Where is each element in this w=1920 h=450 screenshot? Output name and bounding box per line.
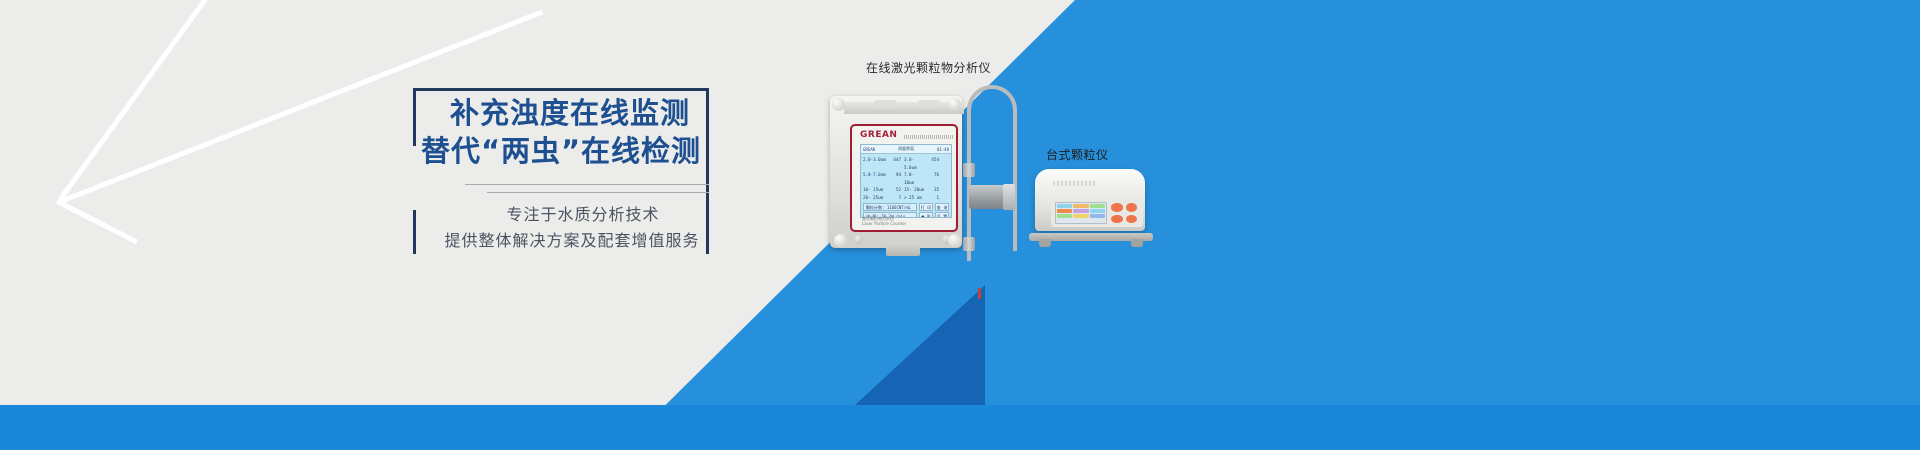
- benchtop-vent: [1053, 181, 1097, 186]
- lcd-status-line: 颗粒计数: 1166CNT/mL 打 印 查 询: [863, 203, 949, 211]
- analyzer-brand-text: GREAN: [860, 130, 897, 140]
- lcd-title-time: 01:48: [937, 147, 949, 152]
- lcd-data-table: 2.0-3.0um 447 3.0-5.0um 454 5.0-7.0um 94…: [861, 154, 951, 201]
- divider-upper: [465, 184, 709, 185]
- headline-group: 补充浊度在线监测 替代“两虫”在线检测: [413, 94, 709, 170]
- benchtop-leg-left: [1039, 239, 1051, 247]
- banner-root: 补充浊度在线监测 替代“两虫”在线检测 专注于水质分析技术 提供整体解决方案及配…: [0, 0, 1920, 450]
- analyzer-top-tab-right: [918, 100, 940, 108]
- probe-sensor-marking: [978, 288, 981, 299]
- benchtop-lcd-cell: [1073, 214, 1088, 218]
- product-image-analyzer: GREAN GREAN 测量界面 01:48 2.0-3.0um 447 3.0…: [822, 84, 970, 260]
- lcd-row: 10- 15um 52 15- 20um 35: [863, 186, 949, 194]
- lcd-range-b: > 25 um: [901, 194, 925, 202]
- product-image-benchtop: [1029, 167, 1153, 247]
- benchtop-enclosure: [1035, 169, 1145, 231]
- analyzer-knob-top-left: [832, 98, 845, 111]
- analyzer-knob-bottom-right: [948, 234, 961, 247]
- lcd-value-b: 35: [925, 186, 939, 194]
- probe-fitting-lower: [963, 237, 975, 251]
- lcd-value-b: 76: [925, 171, 939, 186]
- lcd-value-a: 447: [887, 156, 901, 171]
- bottom-blue-bar: [0, 405, 1920, 450]
- benchtop-keypad[interactable]: [1111, 203, 1137, 223]
- subtitle-line-2: 提供整体解决方案及配套增值服务: [413, 228, 709, 254]
- analyzer-footer-en: Laser Particle Counter: [862, 221, 906, 226]
- analyzer-knob-bottom-left: [834, 234, 847, 247]
- benchtop-key[interactable]: [1111, 203, 1123, 212]
- bracket-top-edge: [413, 88, 709, 91]
- benchtop-lcd-cell: [1073, 204, 1088, 208]
- probe-sensor-cap: [1003, 184, 1015, 210]
- lcd-row: 2.0-3.0um 447 3.0-5.0um 454: [863, 156, 949, 171]
- divider-group: [413, 184, 709, 198]
- benchtop-lcd-cell: [1057, 214, 1072, 218]
- lcd-range-a: 2.0-3.0um: [863, 156, 887, 171]
- headline-line-2: 替代“两虫”在线检测: [413, 132, 709, 170]
- benchtop-control-panel: [1051, 199, 1143, 227]
- analyzer-knob-top-right: [948, 98, 961, 111]
- subtitle-group: 专注于水质分析技术 提供整体解决方案及配套增值服务: [413, 202, 709, 254]
- sensor-probe-assembly: [963, 85, 1023, 270]
- benchtop-lcd-cell: [1090, 214, 1105, 218]
- lcd-value-a: 52: [887, 186, 901, 194]
- analyzer-lcd-screen[interactable]: GREAN 测量界面 01:48 2.0-3.0um 447 3.0-5.0um…: [860, 144, 952, 218]
- analyzer-screw-left: [854, 235, 863, 244]
- lcd-range-b: 7.0- 10um: [901, 171, 925, 186]
- lcd-measure-button[interactable]: ■ 测 量: [919, 212, 933, 218]
- headline-panel: 补充浊度在线监测 替代“两虫”在线检测 专注于水质分析技术 提供整体解决方案及配…: [413, 88, 709, 254]
- lcd-value-a: 7: [887, 194, 901, 202]
- lcd-value-a: 94: [887, 171, 901, 186]
- divider-lower: [487, 192, 709, 193]
- benchtop-lcd-row: [1057, 214, 1105, 218]
- lcd-range-a: 20- 25um: [863, 194, 887, 202]
- lcd-title-bar: GREAN 测量界面 01:48: [861, 145, 951, 154]
- lcd-settings-button[interactable]: 设 置: [935, 212, 949, 218]
- benchtop-key[interactable]: [1111, 215, 1123, 224]
- benchtop-key[interactable]: [1126, 215, 1138, 224]
- benchtop-lcd-cell: [1090, 204, 1105, 208]
- analyzer-top-tab-left: [874, 100, 896, 108]
- benchtop-lcd-row: [1057, 204, 1105, 208]
- lcd-value-b: 454: [925, 156, 939, 171]
- subtitle-line-1: 专注于水质分析技术: [413, 202, 709, 228]
- analyzer-enclosure: GREAN GREAN 测量界面 01:48 2.0-3.0um 447 3.0…: [830, 96, 962, 248]
- lcd-row: 20- 25um 7 > 25 um 1: [863, 194, 949, 202]
- lcd-range-b: 3.0-5.0um: [901, 156, 925, 171]
- benchtop-lcd-cell: [1057, 209, 1072, 213]
- lcd-range-b: 15- 20um: [901, 186, 925, 194]
- lcd-title-center: 测量界面: [898, 146, 914, 152]
- benchtop-lcd-screen[interactable]: [1055, 202, 1107, 224]
- analyzer-footer-text: 激光颗粒物分析仪 Laser Particle Counter: [862, 216, 906, 226]
- lcd-row: 5.0-7.0um 94 7.0- 10um 76: [863, 171, 949, 186]
- benchtop-key[interactable]: [1126, 203, 1138, 212]
- benchtop-lcd-cell: [1090, 209, 1105, 213]
- analyzer-front-bezel: GREAN GREAN 测量界面 01:48 2.0-3.0um 447 3.0…: [850, 124, 958, 232]
- analyzer-brand-hatch: [904, 135, 954, 139]
- lcd-range-a: 10- 15um: [863, 186, 887, 194]
- lcd-range-a: 5.0-7.0um: [863, 171, 887, 186]
- headline-line-1: 补充浊度在线监测: [413, 94, 709, 132]
- benchtop-lcd-cell: [1057, 204, 1072, 208]
- lcd-print-button[interactable]: 打 印: [919, 203, 933, 211]
- probe-fitting-upper: [963, 163, 975, 177]
- benchtop-lcd-row: [1057, 209, 1105, 213]
- product-label-analyzer: 在线激光颗粒物分析仪: [866, 59, 991, 76]
- probe-tube-arc: [967, 85, 1017, 155]
- lcd-query-button[interactable]: 查 询: [935, 203, 949, 211]
- lcd-value-b: 1: [925, 194, 939, 202]
- lcd-title-brand: GREAN: [863, 147, 875, 152]
- analyzer-bottom-port: [886, 242, 920, 256]
- product-label-benchtop: 台式颗粒仪: [1046, 146, 1109, 163]
- benchtop-leg-right: [1131, 239, 1143, 247]
- lcd-count-readout: 颗粒计数: 1166CNT/mL: [863, 203, 917, 211]
- analyzer-top-rail: [844, 102, 964, 114]
- benchtop-lcd-cell: [1073, 209, 1088, 213]
